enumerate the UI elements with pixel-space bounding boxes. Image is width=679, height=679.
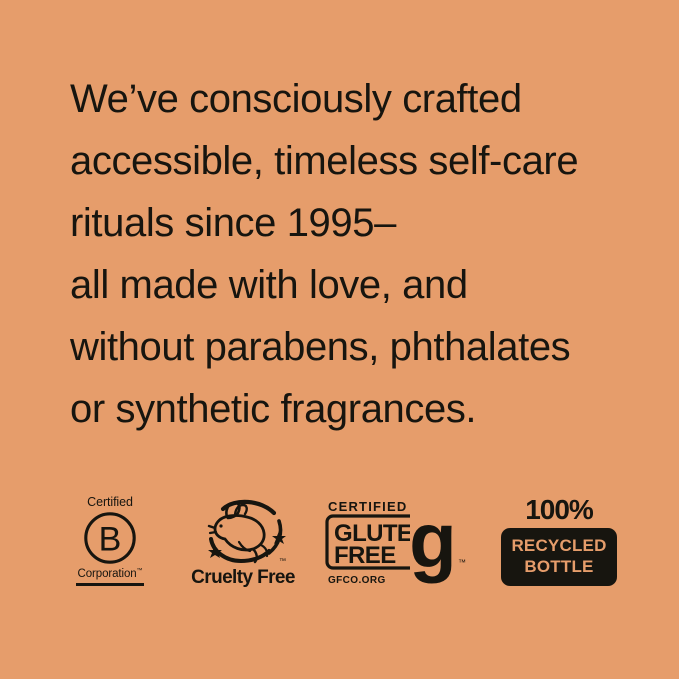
bcorp-corporation-block: Corporation™ [76, 568, 144, 586]
statement-line-3: rituals since 1995– [70, 192, 660, 254]
badge-certified-b-corporation: Certified B Corporation™ [62, 496, 158, 587]
statement-line-6: or synthetic fragrances. [70, 378, 660, 440]
gluten-line-two: FREE [334, 542, 396, 569]
recycled-line-one: RECYCLED [511, 536, 606, 556]
cruelty-trademark-mark: ™ [279, 558, 286, 565]
svg-text:B: B [99, 521, 122, 559]
bcorp-corporation-label: Corporation™ [78, 568, 143, 580]
statement-line-2: accessible, timeless self-care [70, 130, 660, 192]
gluten-certified-label: CERTIFIED [328, 499, 407, 514]
brand-statement-text: We’ve consciously crafted accessible, ti… [70, 68, 660, 440]
bcorp-trademark-mark: ™ [137, 568, 143, 574]
cruelty-free-label: Cruelty Free [191, 568, 295, 587]
gluten-trademark-mark: ™ [458, 558, 466, 567]
brand-statement-panel: We’ve consciously crafted accessible, ti… [0, 0, 679, 679]
statement-line-4: all made with love, and [70, 254, 660, 316]
badge-certified-gluten-free: CERTIFIED GLUTEN FREE g ™ GFCO.ORG [322, 495, 470, 587]
badge-recycled-bottle: 100% RECYCLED BOTTLE [500, 496, 618, 585]
statement-line-5: without parabens, phthalates [70, 316, 660, 378]
badge-cruelty-free: ™ Cruelty Free [184, 495, 302, 587]
bcorp-corporation-text: Corporation [78, 568, 137, 580]
certification-badge-row: Certified B Corporation™ [62, 486, 622, 596]
bcorp-underline-rule [76, 583, 144, 586]
recycled-percent-label: 100% [525, 496, 593, 524]
gfco-g-letter: g [409, 496, 457, 584]
recycled-line-two: BOTTLE [524, 557, 593, 577]
bcorp-certified-label: Certified [87, 496, 133, 509]
recycled-plate: RECYCLED BOTTLE [501, 528, 616, 585]
gfco-url-label: GFCO.ORG [328, 575, 386, 586]
leaping-bunny-icon: ™ [195, 495, 291, 567]
b-corp-circle-b-icon: B [83, 511, 137, 565]
statement-line-1: We’ve consciously crafted [70, 68, 660, 130]
gfco-gluten-free-icon: CERTIFIED GLUTEN FREE g ™ GFCO.ORG [322, 495, 470, 587]
